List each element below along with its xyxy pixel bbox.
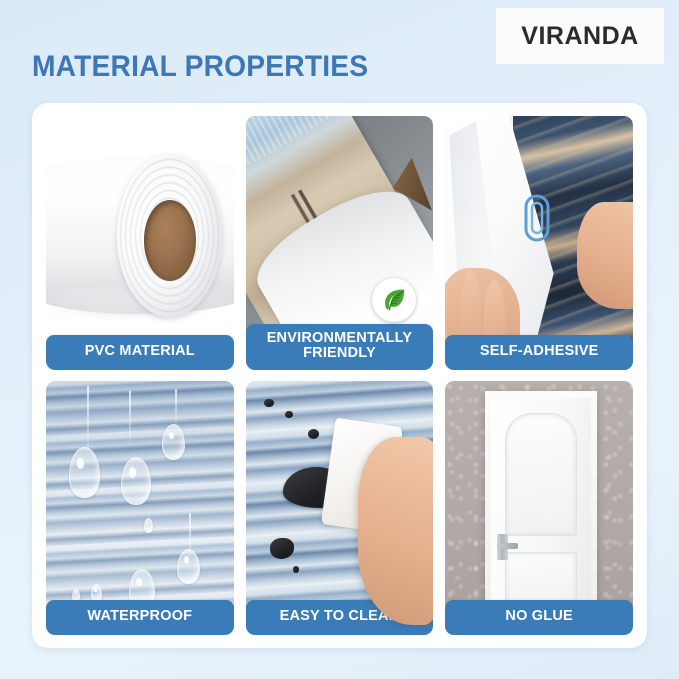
door-frame [485,391,598,620]
feature-label-no-glue: NO GLUE [445,600,633,635]
stain-spot [293,566,299,572]
hand-right [577,202,633,309]
door-handle-icon [497,534,508,560]
page-title: MATERIAL PROPERTIES [32,50,368,84]
feature-panel: PVC MATERIAL [32,103,647,648]
feature-card-waterproof[interactable]: WATERPROOF [46,381,234,635]
stain-spot [270,538,294,558]
self-adhesive-image [445,116,633,370]
leaf-icon [372,278,416,322]
door-leaf [491,398,590,617]
feature-label-pvc-material: PVC MATERIAL [46,335,234,370]
product-infographic: VIRANDA MATERIAL PROPERTIES PVC MATERIAL [0,0,679,679]
feature-card-self-adhesive[interactable]: SELF-ADHESIVE [445,116,633,370]
water-droplet [162,424,185,460]
hand-holding-cloth [358,437,433,625]
feature-label-line-1: ENVIRONMENTALLY [267,330,413,346]
pvc-roll-image [46,116,234,370]
stain-spot [285,411,293,418]
feature-label-line-2: FRIENDLY [303,345,376,361]
roll-core-icon [144,200,197,281]
water-droplet [177,549,200,585]
water-streak [129,391,131,447]
water-droplet [121,457,151,505]
feature-label-environmentally-friendly: ENVIRONMENTALLY FRIENDLY [246,324,434,370]
feature-card-easy-to-clean[interactable]: EASY TO CLEAN [246,381,434,635]
door-panel-top [505,413,576,536]
feature-label-waterproof: WATERPROOF [46,600,234,635]
feature-card-pvc-material[interactable]: PVC MATERIAL [46,116,234,370]
water-streak [175,389,177,430]
waterproof-image [46,381,234,635]
feature-card-no-glue[interactable]: NO GLUE [445,381,633,635]
feature-label-self-adhesive: SELF-ADHESIVE [445,335,633,370]
paperclip-icon [520,192,554,244]
water-droplet [69,447,101,498]
feature-card-environmentally-friendly[interactable]: ENVIRONMENTALLY FRIENDLY [246,116,434,370]
water-droplet [144,518,153,533]
no-glue-image [445,381,633,635]
brand-badge: VIRANDA [496,8,664,64]
feature-grid: PVC MATERIAL [46,116,633,635]
water-droplet [91,584,102,602]
stain-spot [308,429,319,439]
brand-name: VIRANDA [521,22,638,51]
easy-to-clean-image [246,381,434,635]
stain-spot [264,399,273,407]
